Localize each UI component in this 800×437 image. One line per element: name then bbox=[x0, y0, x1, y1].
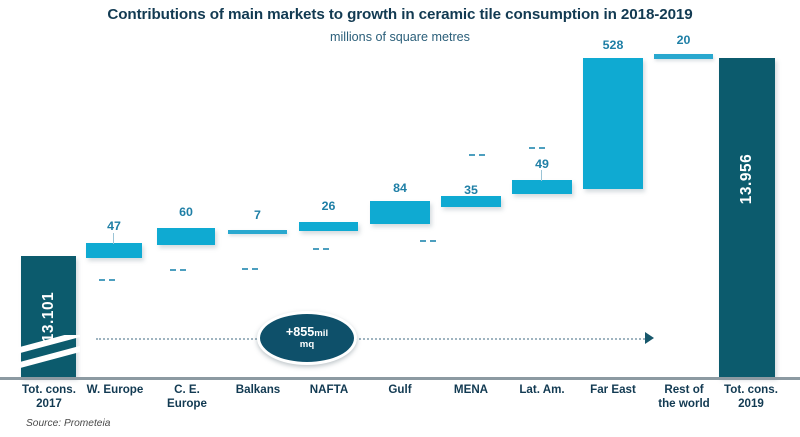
category-line-1: Rest of bbox=[647, 383, 721, 397]
bar-far-east[interactable] bbox=[583, 58, 643, 189]
bar-lat-am[interactable] bbox=[512, 180, 572, 194]
category-line-1: Gulf bbox=[363, 383, 437, 397]
category-label-mena: MENA bbox=[434, 383, 508, 397]
bar-value-tot-cons-2019: 13.956 bbox=[738, 154, 756, 204]
category-line-1: MENA bbox=[434, 383, 508, 397]
category-line-1: Tot. cons. bbox=[714, 383, 788, 397]
category-label-lat-am: Lat. Am. bbox=[505, 383, 579, 397]
connector-balkans bbox=[242, 268, 258, 270]
bar-w-europe[interactable] bbox=[86, 243, 142, 258]
axis-baseline bbox=[0, 377, 800, 380]
category-label-w-europe: W. Europe bbox=[78, 383, 152, 397]
chart-canvas: Contributions of main markets to growth … bbox=[0, 0, 800, 437]
bar-value-ce-europe: 60 bbox=[157, 205, 215, 219]
connector-w-europe bbox=[99, 279, 115, 281]
category-line-1: Tot. cons. bbox=[12, 383, 86, 397]
total-growth-badge: +855mil mq bbox=[257, 311, 357, 365]
growth-badge-unit2: mq bbox=[300, 340, 314, 350]
category-line-1: NAFTA bbox=[292, 383, 366, 397]
category-label-rest-of-the-world: Rest of the world bbox=[647, 383, 721, 411]
source-note: Source: Prometeia bbox=[26, 418, 110, 429]
category-line-1: Far East bbox=[576, 383, 650, 397]
bar-value-far-east: 528 bbox=[583, 38, 643, 52]
bar-value-nafta: 26 bbox=[299, 199, 358, 213]
growth-arrow-head-icon bbox=[645, 332, 654, 344]
connector-gulf bbox=[420, 240, 436, 242]
growth-badge-value: +855mil bbox=[286, 326, 328, 340]
bar-value-rest-of-the-world: 20 bbox=[654, 33, 713, 47]
value-tick-lat-am bbox=[541, 170, 542, 181]
connector-lat-am bbox=[529, 147, 545, 149]
bar-rest-of-the-world[interactable] bbox=[654, 54, 713, 59]
category-line-2: Europe bbox=[150, 397, 224, 411]
connector-ce-europe bbox=[170, 269, 186, 271]
connector-mena bbox=[469, 154, 485, 156]
category-label-nafta: NAFTA bbox=[292, 383, 366, 397]
bar-value-w-europe: 47 bbox=[86, 219, 142, 233]
bar-value-tot-cons-2017: 13.101 bbox=[40, 291, 58, 341]
category-label-tot-cons-2019: Tot. cons. 2019 bbox=[714, 383, 788, 411]
bar-tot-cons-2017[interactable]: 13.101 bbox=[21, 256, 76, 377]
bar-gulf[interactable] bbox=[370, 201, 430, 224]
category-line-1: Lat. Am. bbox=[505, 383, 579, 397]
category-label-balkans: Balkans bbox=[221, 383, 295, 397]
category-label-far-east: Far East bbox=[576, 383, 650, 397]
bar-balkans[interactable] bbox=[228, 230, 287, 234]
connector-nafta bbox=[313, 248, 329, 250]
growth-badge-number: +855 bbox=[286, 325, 314, 339]
category-line-2: 2017 bbox=[12, 397, 86, 411]
value-tick-w-europe bbox=[113, 233, 114, 244]
category-label-tot-cons-2017: Tot. cons. 2017 bbox=[12, 383, 86, 411]
category-line-1: W. Europe bbox=[78, 383, 152, 397]
bar-value-balkans: 7 bbox=[228, 208, 287, 222]
category-line-1: Balkans bbox=[221, 383, 295, 397]
plot-area: 13.101 47 60 7 26 84 35 49 bbox=[0, 0, 800, 380]
bar-tot-cons-2019[interactable]: 13.956 bbox=[719, 58, 775, 377]
bar-nafta[interactable] bbox=[299, 222, 358, 231]
bar-value-mena: 35 bbox=[441, 183, 501, 197]
bar-mena[interactable] bbox=[441, 196, 501, 207]
bar-value-lat-am: 49 bbox=[512, 157, 572, 171]
growth-badge-unit: mil bbox=[314, 328, 328, 339]
category-label-gulf: Gulf bbox=[363, 383, 437, 397]
bar-value-gulf: 84 bbox=[370, 181, 430, 195]
category-label-ce-europe: C. E. Europe bbox=[150, 383, 224, 411]
category-line-2: the world bbox=[647, 397, 721, 411]
bar-ce-europe[interactable] bbox=[157, 228, 215, 245]
category-line-1: C. E. bbox=[150, 383, 224, 397]
growth-arrow-line bbox=[96, 338, 648, 340]
category-line-2: 2019 bbox=[714, 397, 788, 411]
